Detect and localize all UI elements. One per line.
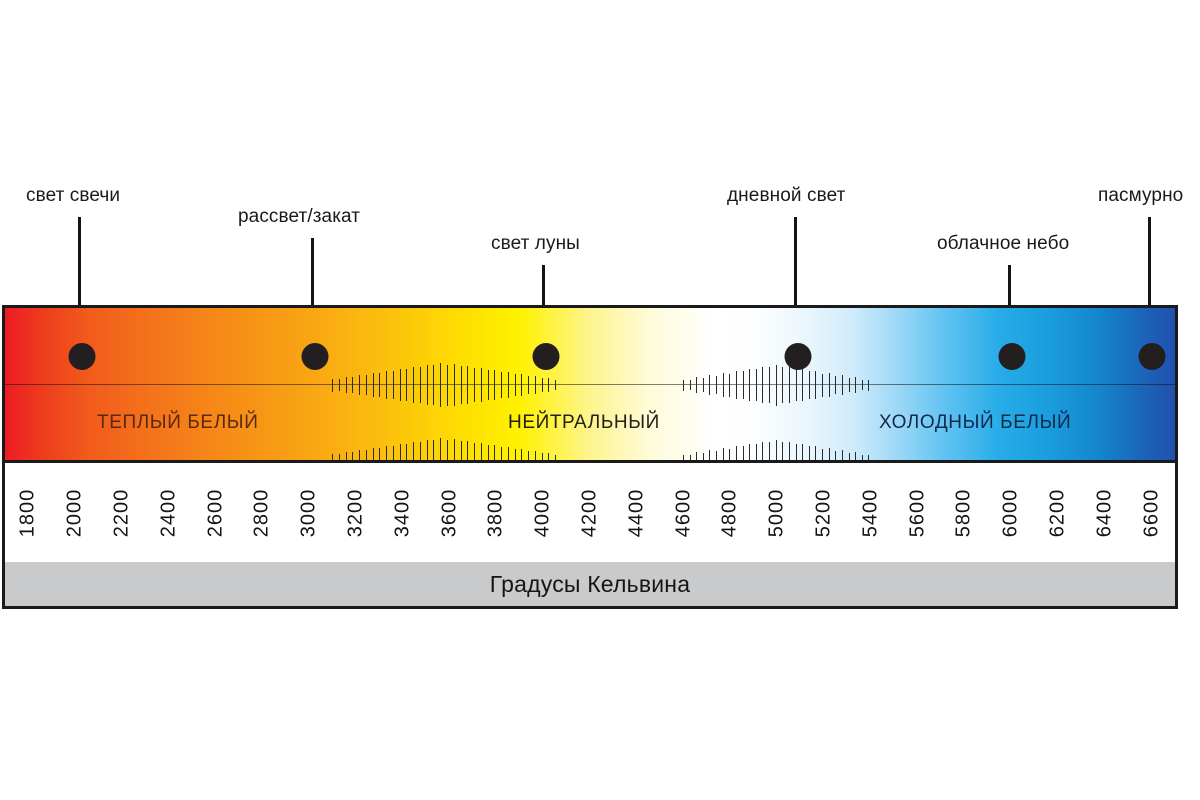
kelvin-tick-label: 5000 bbox=[766, 488, 789, 537]
ruler-tick bbox=[427, 440, 428, 460]
ruler-tick bbox=[413, 367, 414, 385]
ruler-tick bbox=[461, 385, 462, 404]
ruler-tick bbox=[386, 446, 387, 460]
ruler-tick bbox=[835, 385, 836, 394]
ruler-tick bbox=[379, 385, 380, 397]
ruler-tick bbox=[703, 453, 704, 460]
ruler-tick bbox=[776, 365, 777, 386]
ruler-tick bbox=[400, 444, 401, 460]
ruler-tick bbox=[703, 385, 704, 392]
ruler-tick bbox=[501, 372, 502, 385]
ruler-tick bbox=[815, 385, 816, 399]
kelvin-tick-label: 2400 bbox=[157, 488, 180, 537]
ruler-tick bbox=[548, 378, 549, 385]
ruler-tick bbox=[835, 376, 836, 385]
ruler-tick bbox=[716, 451, 717, 460]
ruler-tick bbox=[366, 375, 367, 385]
ruler-tick bbox=[373, 373, 374, 385]
kelvin-tick-label: 4800 bbox=[719, 488, 742, 537]
ruler-tick bbox=[440, 363, 441, 385]
ruler-tick bbox=[386, 371, 387, 385]
ruler-tick bbox=[815, 446, 816, 460]
ruler-tick bbox=[420, 442, 421, 460]
ruler-tick bbox=[555, 385, 556, 390]
ruler-tick bbox=[373, 448, 374, 460]
ruler-tick bbox=[862, 385, 863, 390]
ruler-tick bbox=[474, 368, 475, 385]
ruler-tick bbox=[796, 385, 797, 401]
ruler-tick bbox=[809, 385, 810, 399]
kelvin-tick-label: 3600 bbox=[438, 488, 461, 537]
ruler-tick bbox=[743, 446, 744, 460]
ruler-tick bbox=[849, 385, 850, 392]
ruler-tick bbox=[447, 385, 448, 406]
ruler-tick bbox=[769, 385, 770, 403]
ruler-tick bbox=[690, 380, 691, 385]
ruler-tick bbox=[515, 374, 516, 385]
ruler-tick bbox=[762, 367, 763, 385]
ruler-tick bbox=[729, 374, 730, 386]
ruler-tick bbox=[789, 367, 790, 385]
ruler-tick bbox=[528, 451, 529, 460]
ruler-tick bbox=[474, 443, 475, 460]
ruler-tick bbox=[406, 385, 407, 401]
ruler-tick bbox=[521, 385, 522, 396]
kelvin-axis-label: Градусы Кельвина bbox=[490, 571, 690, 598]
ruler-tick bbox=[829, 385, 830, 397]
ruler-tick bbox=[835, 451, 836, 460]
ruler-tick bbox=[862, 455, 863, 460]
marker-dot-sunrise-sunset bbox=[302, 343, 329, 370]
ruler-tick bbox=[508, 385, 509, 398]
ruler-tick bbox=[332, 454, 333, 461]
kelvin-scale-strip: 1800200022002400260028003000320034003600… bbox=[2, 463, 1178, 562]
kelvin-tick-label: 1800 bbox=[17, 488, 40, 537]
kelvin-tick-label: 4000 bbox=[532, 488, 555, 537]
ruler-tick bbox=[709, 450, 710, 460]
ruler-tick bbox=[743, 371, 744, 385]
ruler-tick bbox=[683, 455, 684, 461]
color-temperature-chart: свет свечи рассвет/закат свет луны дневн… bbox=[0, 0, 1200, 800]
ruler-tick bbox=[535, 385, 536, 394]
marker-dot-overcast bbox=[1139, 343, 1166, 370]
ruler-tick bbox=[535, 451, 536, 460]
ruler-tick bbox=[440, 385, 441, 407]
ruler-tick bbox=[709, 375, 710, 385]
ruler-tick bbox=[782, 442, 783, 460]
ruler-tick bbox=[352, 377, 353, 385]
ruler-tick bbox=[454, 385, 455, 406]
kelvin-tick-label: 3800 bbox=[485, 488, 508, 537]
ruler-tick bbox=[690, 455, 691, 460]
kelvin-tick-label: 5400 bbox=[859, 488, 882, 537]
ruler-tick bbox=[332, 379, 333, 386]
ruler-tick bbox=[352, 385, 353, 393]
ruler-tick bbox=[400, 385, 401, 401]
ruler-tick bbox=[729, 449, 730, 461]
ruler-tick bbox=[729, 385, 730, 397]
kelvin-tick-label: 3200 bbox=[345, 488, 368, 537]
ruler-tick bbox=[542, 453, 543, 460]
ruler-tick bbox=[393, 446, 394, 460]
ruler-tick bbox=[829, 448, 830, 460]
ruler-tick bbox=[379, 448, 380, 460]
ruler-tick bbox=[736, 446, 737, 460]
ruler-tick bbox=[690, 385, 691, 390]
ruler-tick bbox=[413, 442, 414, 460]
ruler-tick bbox=[749, 444, 750, 460]
callout-label-moonlight: свет луны bbox=[491, 234, 580, 253]
ruler-tick bbox=[501, 447, 502, 460]
ruler-tick bbox=[474, 385, 475, 402]
ruler-tick bbox=[420, 385, 421, 403]
ruler-tick bbox=[769, 442, 770, 460]
ruler-tick bbox=[366, 385, 367, 395]
ruler-tick bbox=[723, 385, 724, 397]
ruler-tick bbox=[542, 385, 543, 392]
ruler-tick bbox=[393, 371, 394, 385]
ruler-tick bbox=[756, 444, 757, 460]
ruler-tick bbox=[494, 385, 495, 400]
band-label-warm-white: ТЕПЛЫЙ БЕЛЫЙ bbox=[97, 412, 258, 434]
ruler-tick bbox=[736, 385, 737, 399]
ruler-tick bbox=[703, 378, 704, 385]
ruler-tick bbox=[743, 385, 744, 399]
ruler-tick bbox=[521, 449, 522, 460]
ruler-tick bbox=[339, 454, 340, 460]
ruler-tick bbox=[359, 385, 360, 395]
ruler-tick bbox=[332, 385, 333, 392]
callout-label-sunrise-sunset: рассвет/закат bbox=[238, 207, 360, 226]
ruler-tick bbox=[386, 385, 387, 399]
ruler-tick bbox=[789, 442, 790, 460]
kelvin-tick-label: 6000 bbox=[1000, 488, 1023, 537]
ruler-tick bbox=[776, 385, 777, 406]
kelvin-tick-label: 2200 bbox=[111, 488, 134, 537]
ruler-tick bbox=[447, 440, 448, 461]
kelvin-tick-label: 5600 bbox=[906, 488, 929, 537]
marker-dot-candle bbox=[69, 343, 96, 370]
kelvin-tick-label: 6200 bbox=[1047, 488, 1070, 537]
marker-dot-moonlight bbox=[533, 343, 560, 370]
ruler-tick bbox=[548, 453, 549, 460]
ruler-tick bbox=[339, 379, 340, 385]
ruler-tick bbox=[822, 449, 823, 461]
ruler-tick bbox=[433, 365, 434, 385]
ruler-tick bbox=[862, 380, 863, 385]
ruler-tick bbox=[849, 378, 850, 385]
ruler-tick bbox=[829, 373, 830, 385]
ruler-tick bbox=[393, 385, 394, 399]
ruler-tick bbox=[696, 452, 697, 460]
ruler-tick bbox=[709, 385, 710, 395]
ruler-tick bbox=[494, 370, 495, 385]
ruler-tick bbox=[716, 376, 717, 385]
ruler-tick bbox=[420, 367, 421, 385]
ruler-tick bbox=[461, 441, 462, 460]
kelvin-tick-label: 3400 bbox=[391, 488, 414, 537]
ruler-tick bbox=[488, 385, 489, 400]
ruler-tick bbox=[749, 385, 750, 401]
ruler-tick bbox=[515, 385, 516, 396]
ruler-tick bbox=[379, 373, 380, 385]
ruler-tick bbox=[346, 377, 347, 385]
ruler-ticks-warm-upper-mirror bbox=[332, 363, 562, 385]
ruler-tick bbox=[809, 446, 810, 460]
ruler-tick bbox=[467, 366, 468, 385]
ruler-tick bbox=[842, 385, 843, 395]
ruler-tick bbox=[796, 369, 797, 385]
ruler-tick bbox=[723, 373, 724, 385]
ruler-tick bbox=[802, 369, 803, 385]
ruler-tick bbox=[461, 366, 462, 385]
ruler-tick bbox=[683, 380, 684, 386]
ruler-tick bbox=[842, 375, 843, 385]
ruler-tick bbox=[782, 385, 783, 403]
ruler-tick bbox=[359, 375, 360, 385]
ruler-tick bbox=[796, 444, 797, 460]
ruler-tick bbox=[433, 385, 434, 405]
ruler-tick bbox=[427, 365, 428, 385]
ruler-tick bbox=[555, 380, 556, 385]
ruler-tick bbox=[802, 444, 803, 460]
ruler-tick bbox=[454, 439, 455, 460]
ruler-tick bbox=[508, 447, 509, 460]
ruler-tick bbox=[822, 385, 823, 397]
kelvin-tick-label: 4200 bbox=[579, 488, 602, 537]
ruler-tick bbox=[481, 368, 482, 385]
callout-label-candle: свет свечи bbox=[26, 186, 120, 205]
kelvin-tick-label: 5800 bbox=[953, 488, 976, 537]
ruler-tick bbox=[842, 450, 843, 460]
ruler-tick bbox=[769, 367, 770, 385]
ruler-ticks-cool-upper-mirror bbox=[683, 363, 875, 385]
ruler-tick bbox=[454, 364, 455, 385]
ruler-tick bbox=[346, 385, 347, 393]
color-temperature-gradient-bar: ТЕПЛЫЙ БЕЛЫЙ НЕЙТРАЛЬНЫЙ ХОЛОДНЫЙ БЕЛЫЙ bbox=[2, 305, 1178, 463]
ruler-tick bbox=[855, 377, 856, 385]
ruler-tick bbox=[683, 385, 684, 391]
ruler-tick bbox=[521, 374, 522, 385]
ruler-tick bbox=[413, 385, 414, 403]
kelvin-tick-label: 2800 bbox=[251, 488, 274, 537]
ruler-tick bbox=[481, 385, 482, 402]
kelvin-tick-label: 6600 bbox=[1140, 488, 1163, 537]
ruler-tick bbox=[723, 448, 724, 460]
kelvin-tick-label: 2000 bbox=[64, 488, 87, 537]
kelvin-tick-label: 6400 bbox=[1093, 488, 1116, 537]
ruler-tick bbox=[802, 385, 803, 401]
ruler-tick bbox=[373, 385, 374, 397]
bar-divider-line bbox=[5, 384, 1175, 385]
ruler-tick bbox=[776, 440, 777, 461]
ruler-tick bbox=[339, 385, 340, 391]
ruler-ticks-cool-upper bbox=[683, 385, 875, 407]
ruler-tick bbox=[868, 455, 869, 461]
ruler-tick bbox=[501, 385, 502, 398]
ruler-tick bbox=[762, 385, 763, 403]
ruler-tick bbox=[849, 453, 850, 460]
ruler-tick bbox=[548, 385, 549, 392]
ruler-tick bbox=[736, 371, 737, 385]
kelvin-tick-label: 5200 bbox=[813, 488, 836, 537]
ruler-tick bbox=[809, 371, 810, 385]
ruler-ticks-warm-lower bbox=[332, 438, 562, 460]
ruler-tick bbox=[467, 441, 468, 460]
kelvin-tick-label: 2600 bbox=[204, 488, 227, 537]
ruler-tick bbox=[346, 452, 347, 460]
ruler-tick bbox=[789, 385, 790, 403]
ruler-tick bbox=[756, 385, 757, 401]
ruler-tick bbox=[352, 452, 353, 460]
ruler-tick bbox=[447, 365, 448, 386]
ruler-tick bbox=[406, 444, 407, 460]
ruler-tick bbox=[440, 438, 441, 460]
ruler-tick bbox=[488, 445, 489, 460]
ruler-tick bbox=[782, 367, 783, 385]
ruler-tick bbox=[494, 445, 495, 460]
ruler-tick bbox=[400, 369, 401, 385]
callout-label-overcast: пасмурно bbox=[1098, 186, 1183, 205]
ruler-tick bbox=[868, 385, 869, 391]
callout-label-cloudy-sky: облачное небо bbox=[937, 234, 1069, 253]
ruler-tick bbox=[515, 449, 516, 460]
ruler-tick bbox=[749, 369, 750, 385]
ruler-tick bbox=[696, 385, 697, 393]
ruler-tick bbox=[855, 385, 856, 393]
kelvin-tick-label: 3000 bbox=[298, 488, 321, 537]
ruler-tick bbox=[528, 385, 529, 394]
ruler-tick bbox=[433, 440, 434, 460]
kelvin-axis-footer: Градусы Кельвина bbox=[2, 562, 1178, 609]
callout-label-daylight: дневной свет bbox=[727, 186, 845, 205]
ruler-tick bbox=[555, 455, 556, 460]
band-label-neutral: НЕЙТРАЛЬНЫЙ bbox=[508, 412, 660, 434]
ruler-tick bbox=[716, 385, 717, 394]
ruler-tick bbox=[542, 378, 543, 385]
ruler-tick bbox=[822, 374, 823, 386]
ruler-tick bbox=[855, 452, 856, 460]
band-label-cool-white: ХОЛОДНЫЙ БЕЛЫЙ bbox=[879, 412, 1071, 434]
marker-dot-daylight bbox=[785, 343, 812, 370]
ruler-tick bbox=[406, 369, 407, 385]
ruler-tick bbox=[762, 442, 763, 460]
ruler-tick bbox=[696, 377, 697, 385]
marker-dot-cloudy-sky bbox=[999, 343, 1026, 370]
ruler-tick bbox=[528, 376, 529, 385]
ruler-ticks-warm-upper bbox=[332, 385, 562, 407]
ruler-ticks-cool-lower bbox=[683, 438, 875, 460]
kelvin-tick-label: 4400 bbox=[625, 488, 648, 537]
ruler-tick bbox=[366, 450, 367, 460]
ruler-tick bbox=[815, 371, 816, 385]
ruler-tick bbox=[535, 376, 536, 385]
ruler-tick bbox=[467, 385, 468, 404]
ruler-tick bbox=[868, 380, 869, 386]
kelvin-tick-label: 4600 bbox=[672, 488, 695, 537]
ruler-tick bbox=[508, 372, 509, 385]
ruler-tick bbox=[359, 450, 360, 460]
ruler-tick bbox=[427, 385, 428, 405]
ruler-tick bbox=[481, 443, 482, 460]
ruler-tick bbox=[488, 370, 489, 385]
ruler-tick bbox=[756, 369, 757, 385]
